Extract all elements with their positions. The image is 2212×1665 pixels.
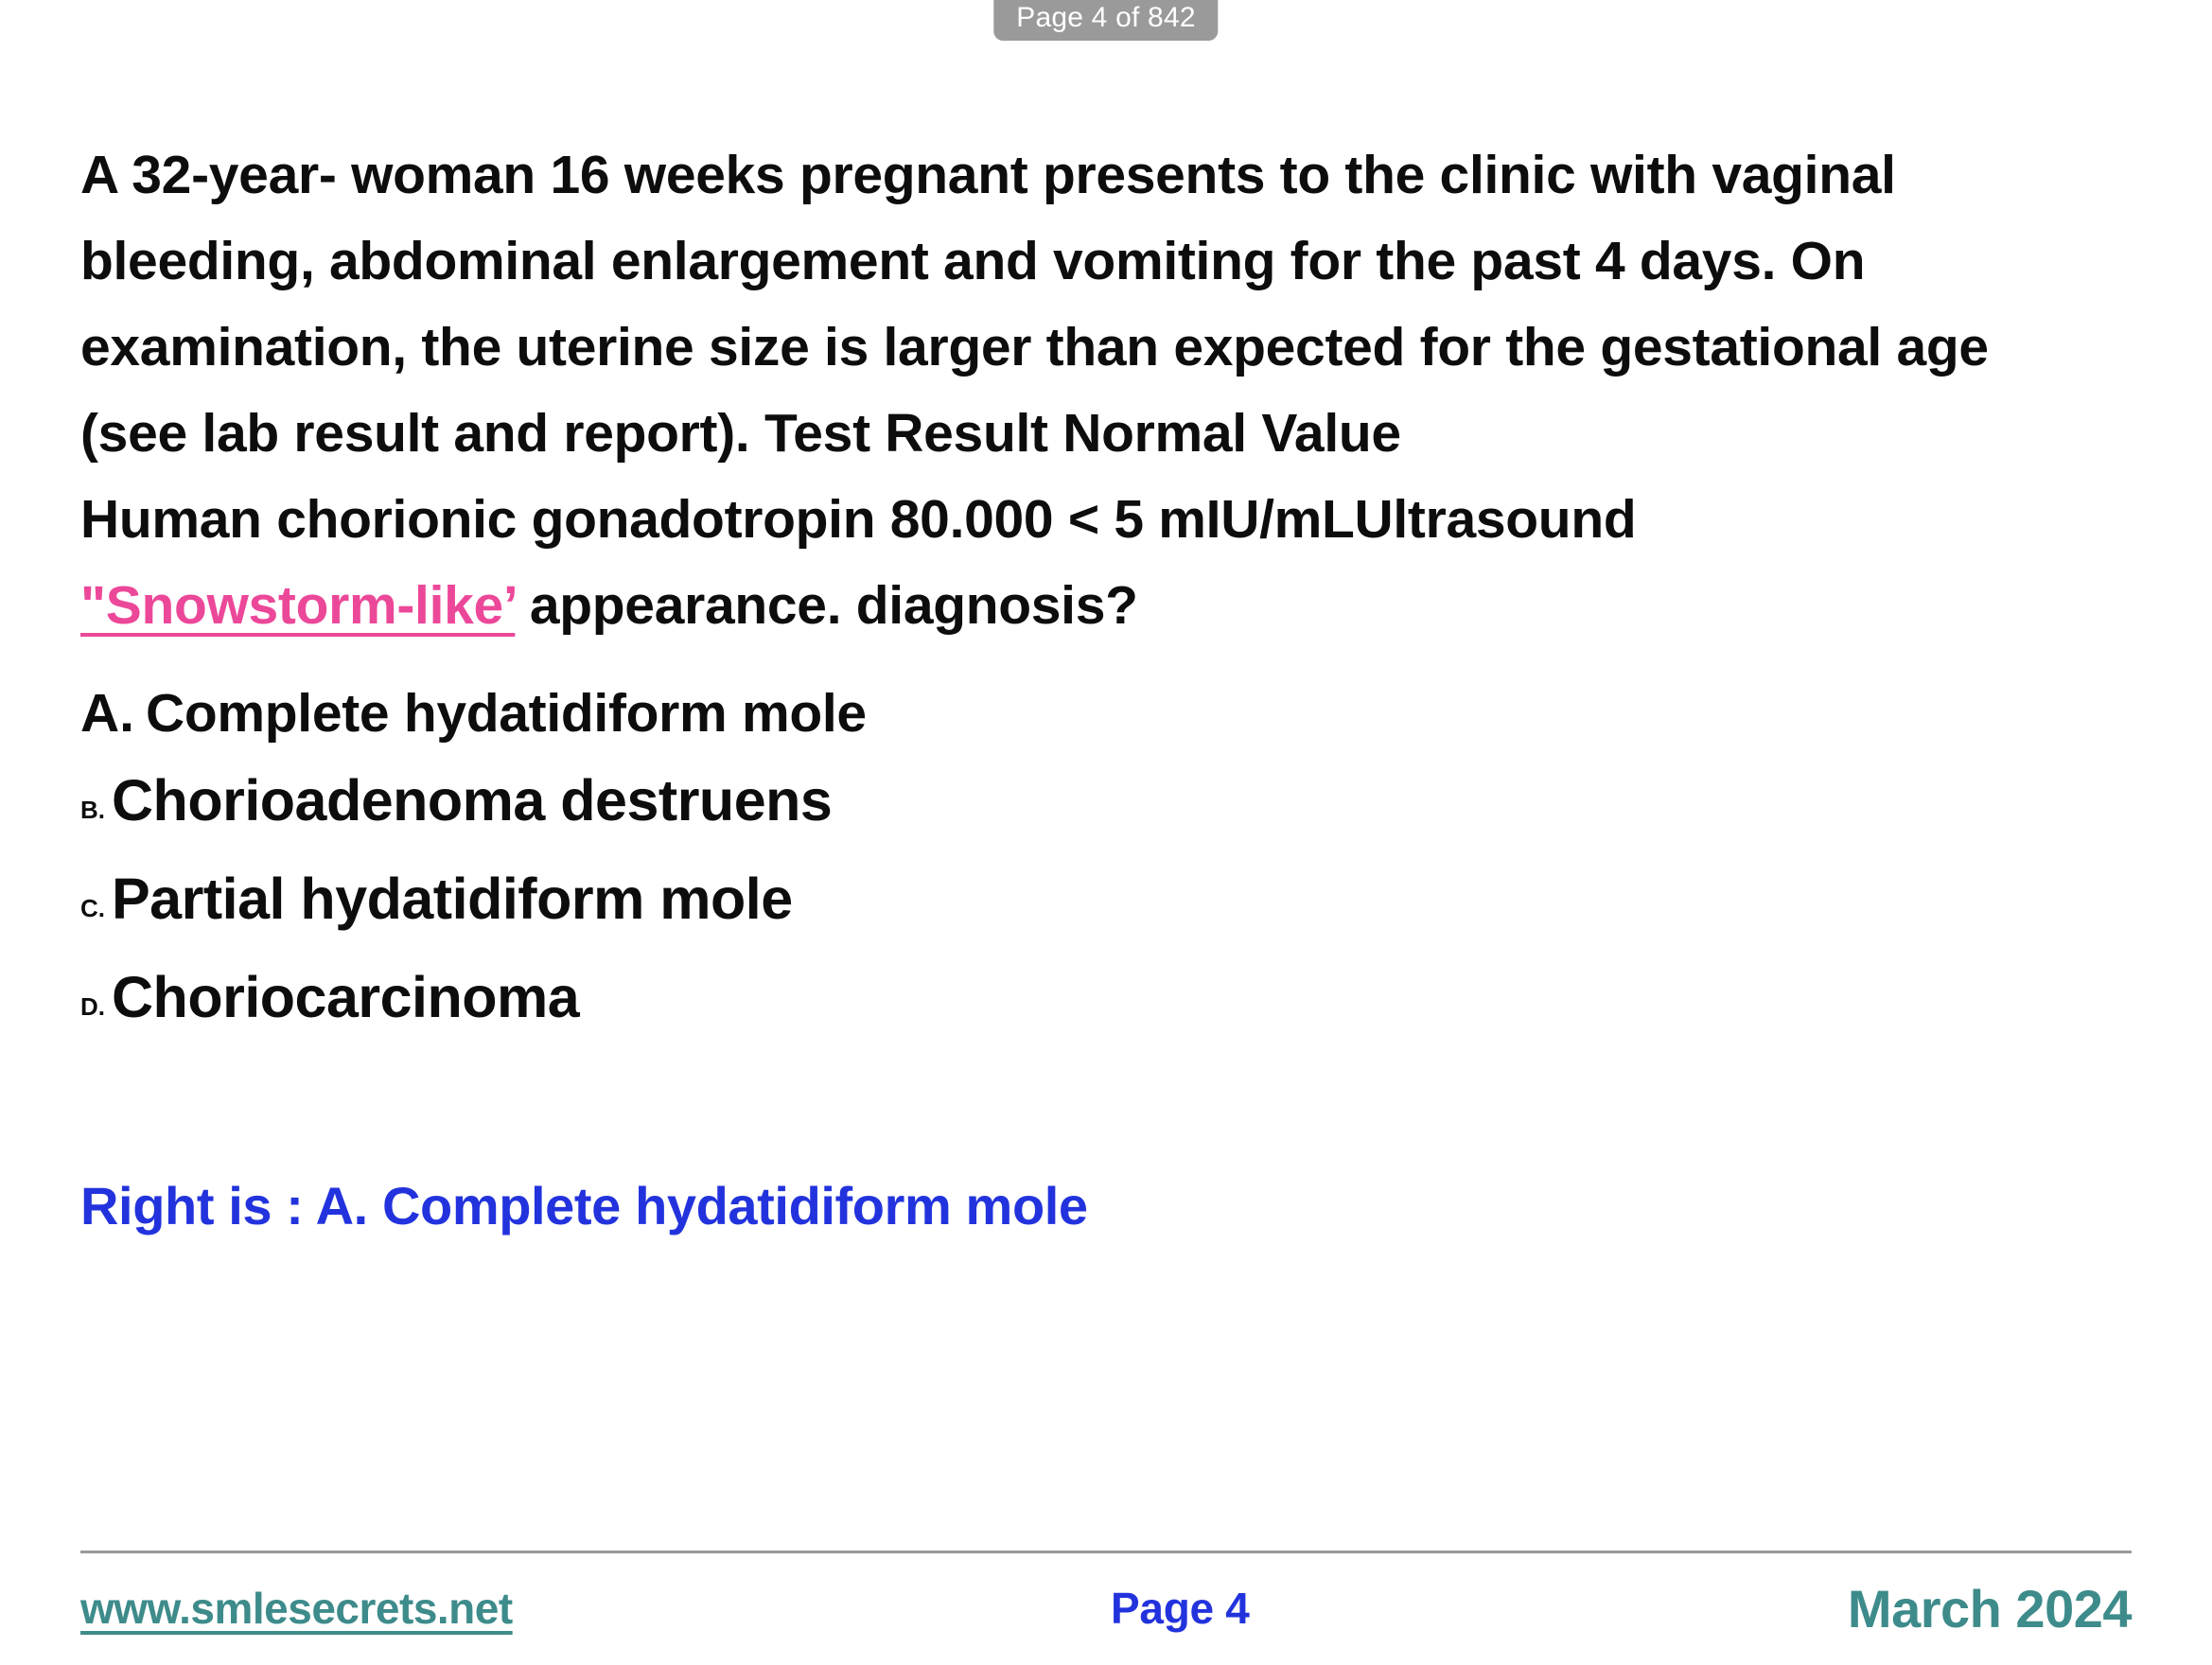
option-c[interactable]: C. Partial hydatidiform mole	[80, 855, 2143, 954]
slide-content: A 32-year- woman 16 weeks pregnant prese…	[80, 132, 2143, 1236]
correct-answer-text: Right is : A. Complete hydatidiform mole	[80, 1175, 2143, 1236]
option-b-label: Chorioadenoma destruens	[112, 757, 832, 844]
question-stem: A 32-year- woman 16 weeks pregnant prese…	[80, 132, 2143, 649]
option-c-label: Partial hydatidiform mole	[112, 855, 793, 942]
option-c-letter: C.	[80, 865, 105, 952]
stem-line-2: bleeding, abdominal enlargement and vomi…	[80, 219, 2143, 305]
footer-website-link[interactable]: www.smlesecrets.net	[80, 1583, 513, 1634]
option-a[interactable]: A. Complete hydatidiform mole	[80, 670, 2143, 757]
option-a-label: Complete hydatidiform mole	[146, 670, 867, 757]
option-d[interactable]: D. Choriocarcinoma	[80, 954, 2143, 1052]
slide-footer: www.smlesecrets.net Page 4 March 2024	[80, 1570, 2132, 1646]
answer-options-list: A. Complete hydatidiform mole B. Chorioa…	[80, 670, 2143, 1052]
footer-page-label: Page 4	[513, 1583, 1848, 1634]
option-b-letter: B.	[80, 766, 105, 853]
option-a-letter: A.	[80, 670, 134, 757]
stem-line-3: examination, the uterine size is larger …	[80, 305, 2143, 391]
footer-date: March 2024	[1848, 1578, 2132, 1639]
stem-line-1: A 32-year- woman 16 weeks pregnant prese…	[80, 132, 2143, 219]
highlight-line-rest: appearance. diagnosis?	[515, 575, 1137, 636]
page-indicator-badge: Page 4 of 842	[993, 0, 1218, 41]
stem-line-4: (see lab result and report). Test Result…	[80, 391, 2143, 477]
stem-line-highlight: "Snowstorm-like’ appearance. diagnosis?	[80, 563, 2143, 649]
option-d-letter: D.	[80, 963, 105, 1050]
option-b[interactable]: B. Chorioadenoma destruens	[80, 757, 2143, 855]
option-d-label: Choriocarcinoma	[112, 954, 579, 1041]
stem-line-5: Human chorionic gonadotropin 80.000 < 5 …	[80, 477, 2143, 563]
slide-canvas: A 32-year- woman 16 weeks pregnant prese…	[0, 0, 2212, 1665]
footer-divider	[80, 1551, 2132, 1553]
snowstorm-keyword: "Snowstorm-like’	[80, 575, 515, 636]
